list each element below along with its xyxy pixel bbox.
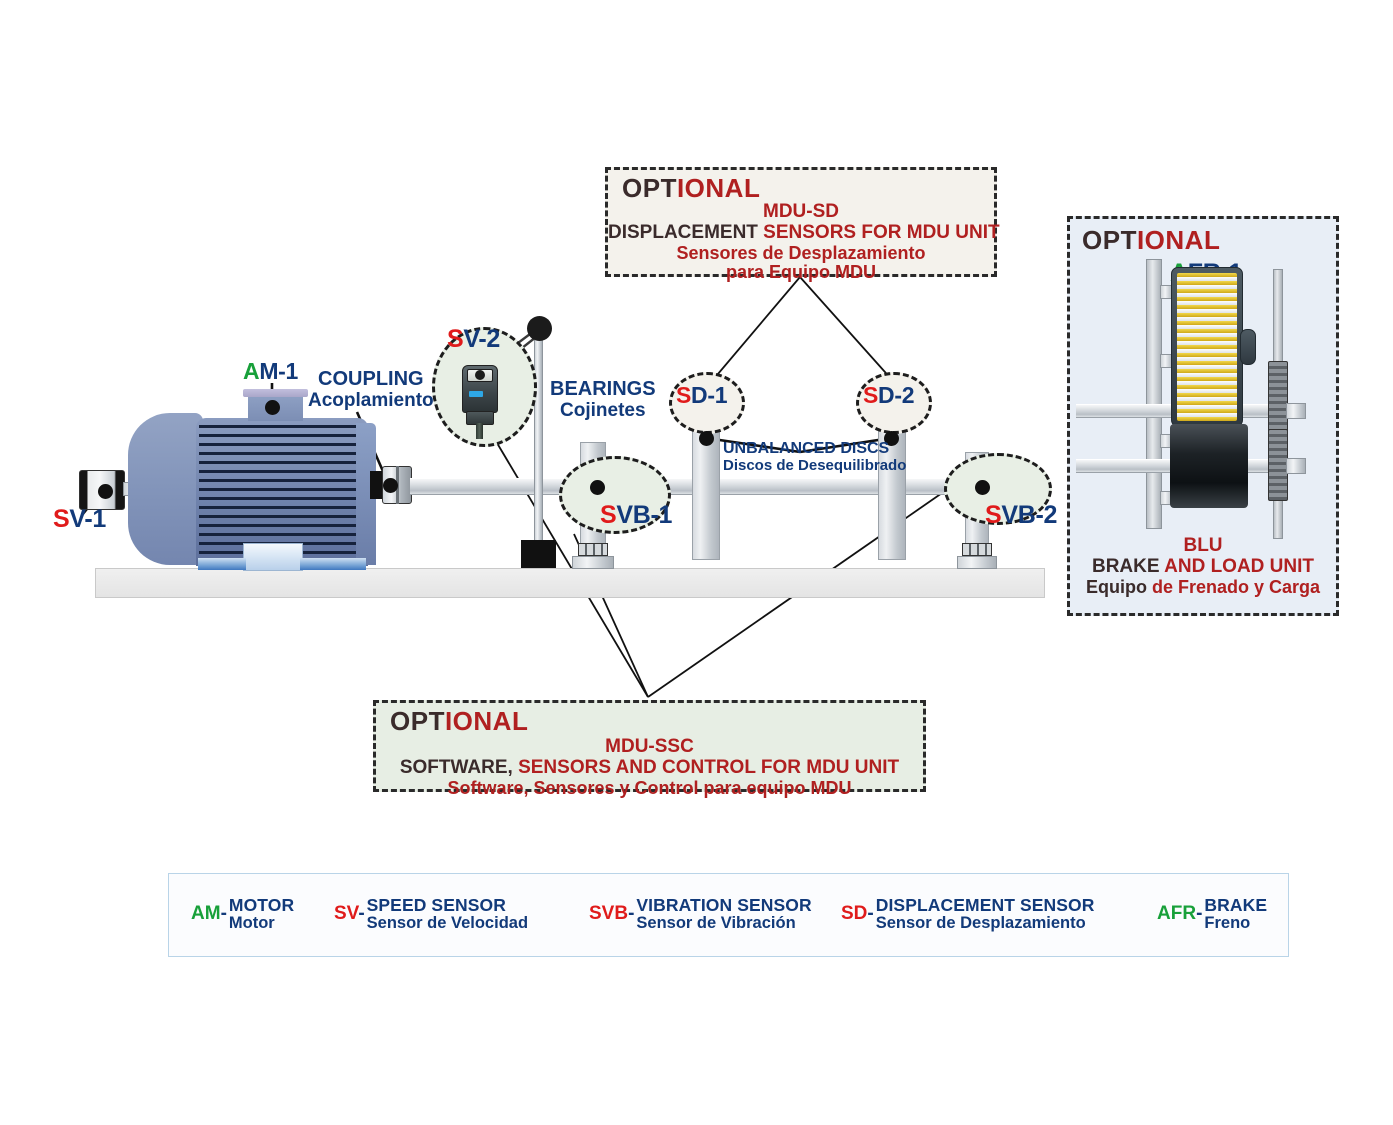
callout-bearings-en: BEARINGS [550, 378, 656, 400]
label-sv-2-tail: V-2 [463, 325, 500, 353]
blu-line-es: Equipo de Frenado y Carga [1070, 577, 1336, 598]
motor-endbell [128, 413, 203, 565]
blu-upper-post [1146, 259, 1162, 529]
mdu-ssc-line-en: SOFTWARE, SENSORS AND CONTROL FOR MDU UN… [376, 757, 923, 779]
bearing2-foot [957, 556, 997, 569]
mdu-sd-line-es-2: para Equipo MDU [608, 262, 994, 283]
label-sd-1-head: S [676, 382, 691, 408]
motor-foot-right [300, 558, 366, 570]
motor-centre-band [243, 543, 303, 571]
label-svb-2-tail: VB-2 [1001, 501, 1057, 529]
blu-code: BLU [1070, 535, 1336, 557]
sv2-target-ball [527, 316, 552, 341]
bearing1-bolt-row [578, 543, 608, 556]
afr-coil-stack [1177, 273, 1237, 421]
legend-item-motor: AM- MOTOR Motor [191, 896, 294, 933]
legend-item-vibration-sensor: SVB- VIBRATION SENSOR Sensor de Vibració… [589, 896, 812, 933]
legend-item-displacement-sensor: SD- DISPLACEMENT SENSOR Sensor de Despla… [841, 896, 1094, 933]
label-sv-2: SV-2 [447, 325, 500, 354]
label-sv-1-tail: V-1 [69, 505, 106, 533]
blu-lower-shaft-end [1286, 458, 1306, 474]
mdu-sd-code: MDU-SD [608, 201, 994, 223]
mdu-ssc-line-en-dark: SOFTWARE, [400, 757, 513, 778]
legend-text-displacement-sensor: DISPLACEMENT SENSOR Sensor de Desplazami… [876, 896, 1095, 933]
callout-discs-en: UNBALANCED DISCS [723, 440, 878, 458]
motor-foot-left [198, 558, 246, 570]
sd1-anchor-dot [699, 431, 714, 446]
callout-bearings: BEARINGS Cojinetes [550, 378, 656, 422]
mdu-ssc-line-en-red: SENSORS AND CONTROL FOR MDU UNIT [513, 757, 899, 778]
optional-word-part1: OPT [1082, 225, 1137, 255]
optional-box-mdu-ssc: OPTIONAL MDU-SSC SOFTWARE, SENSORS AND C… [373, 700, 926, 792]
mdu-ssc-line-es: Software, Sensores y Control para equipo… [376, 778, 923, 799]
label-svb-2: SVB-2 [985, 501, 1057, 530]
bearing2-bolt-row [962, 543, 992, 556]
callout-coupling-en: COUPLING [308, 368, 434, 390]
blu-line-en-red: AND LOAD UNIT [1160, 556, 1314, 577]
blu-line-es-dark: Equipo [1086, 577, 1147, 597]
legend-item-brake: AFR- BRAKE Freno [1157, 896, 1267, 933]
label-svb-2-head: S [985, 501, 1001, 529]
optional-word-part1: OPT [390, 706, 445, 736]
blu-line-en: BRAKE AND LOAD UNIT [1070, 556, 1336, 578]
sv1-anchor-dot [98, 484, 113, 499]
callout-discs-es: Discos de Desequilibrado [723, 458, 878, 475]
legend-panel: AM- MOTOR Motor SV- SPEED SENSOR Sensor … [168, 873, 1289, 957]
label-sd-1: SD-1 [676, 382, 727, 409]
label-svb-1-tail: VB-1 [616, 501, 672, 529]
callout-coupling: COUPLING Acoplamiento [308, 368, 434, 412]
blu-upper-shaft-end [1286, 403, 1306, 419]
coupling-anchor-dot [383, 478, 398, 493]
svb2-anchor-dot [975, 480, 990, 495]
optional-word-part1: OPT [622, 173, 677, 203]
optional-box-mdu-sd: OPTIONAL MDU-SD DISPLACEMENT SENSORS FOR… [605, 167, 997, 277]
legend-text-speed-sensor: SPEED SENSOR Sensor de Velocidad [367, 896, 528, 933]
mdu-sd-line-en: DISPLACEMENT SENSORS FOR MDU UNIT [608, 222, 994, 244]
label-sd-1-tail: D-1 [691, 382, 727, 408]
blu-lower-drum [1170, 424, 1248, 508]
label-sd-2-head: S [863, 382, 878, 408]
bench-base [95, 568, 1045, 598]
callout-bearings-es: Cojinetes [550, 400, 656, 421]
mdu-sd-line-es-1: Sensores de Desplazamiento [608, 243, 994, 264]
legend-code-sd: SD- [841, 903, 874, 925]
optional-heading-mdu-sd: OPTIONAL [622, 173, 760, 204]
optional-word-part2: IONAL [677, 173, 760, 203]
legend-item-speed-sensor: SV- SPEED SENSOR Sensor de Velocidad [334, 896, 528, 933]
optional-word-part2: IONAL [1137, 225, 1220, 255]
label-svb-1-head: S [600, 501, 616, 529]
afr-hub-boss [1240, 329, 1256, 365]
blu-line-es-red: de Frenado y Carga [1147, 577, 1320, 597]
legend-code-sv: SV- [334, 903, 365, 925]
label-svb-1: SVB-1 [600, 501, 672, 530]
motor-terminal-cap [243, 389, 308, 397]
label-sv-2-head: S [447, 325, 463, 353]
am1-anchor-dot [265, 400, 280, 415]
legend-code-am: AM- [191, 903, 227, 925]
sv2-tachometer-device [461, 365, 499, 439]
mdu-ssc-code: MDU-SSC [376, 736, 923, 758]
bearing1-foot [572, 556, 614, 569]
label-sd-2-tail: D-2 [878, 382, 914, 408]
callout-coupling-es: Acoplamiento [308, 390, 434, 411]
svb1-anchor-dot [590, 480, 605, 495]
blu-line-en-dark: BRAKE [1092, 556, 1160, 577]
label-am-1: AM-1 [243, 358, 298, 385]
optional-heading-mdu-ssc: OPTIONAL [390, 706, 528, 737]
sv2-stand-base [521, 540, 556, 568]
callout-unbalanced-discs: UNBALANCED DISCS Discos de Desequilibrad… [723, 440, 878, 475]
label-sd-2: SD-2 [863, 382, 914, 409]
legend-text-brake: BRAKE Freno [1204, 896, 1267, 933]
label-am-1-head: A [243, 358, 259, 384]
label-sv-1: SV-1 [53, 505, 106, 534]
mdu-sd-line-en-red: SENSORS FOR MDU UNIT [758, 222, 1000, 243]
optional-word-part2: IONAL [445, 706, 528, 736]
legend-code-svb: SVB- [589, 903, 634, 925]
label-am-1-tail: M-1 [259, 358, 298, 384]
optional-box-blu: OPTIONAL AFR-1 [1067, 216, 1339, 616]
label-sv-1-head: S [53, 505, 69, 533]
legend-text-motor: MOTOR Motor [229, 896, 294, 933]
legend-code-afr: AFR- [1157, 903, 1202, 925]
mdu-sd-line-en-dark: DISPLACEMENT [608, 222, 758, 243]
blu-lower-gear [1268, 429, 1288, 501]
motor-cooling-fins [199, 425, 365, 560]
diagram-canvas: SV-1 AM-1 SV-2 SVB-1 SVB-2 SD-1 SD-2 COU… [0, 0, 1393, 1125]
optional-heading-blu: OPTIONAL [1082, 225, 1220, 256]
sv2-stand-rod [534, 332, 543, 544]
legend-text-vibration-sensor: VIBRATION SENSOR Sensor de Vibración [636, 896, 811, 933]
